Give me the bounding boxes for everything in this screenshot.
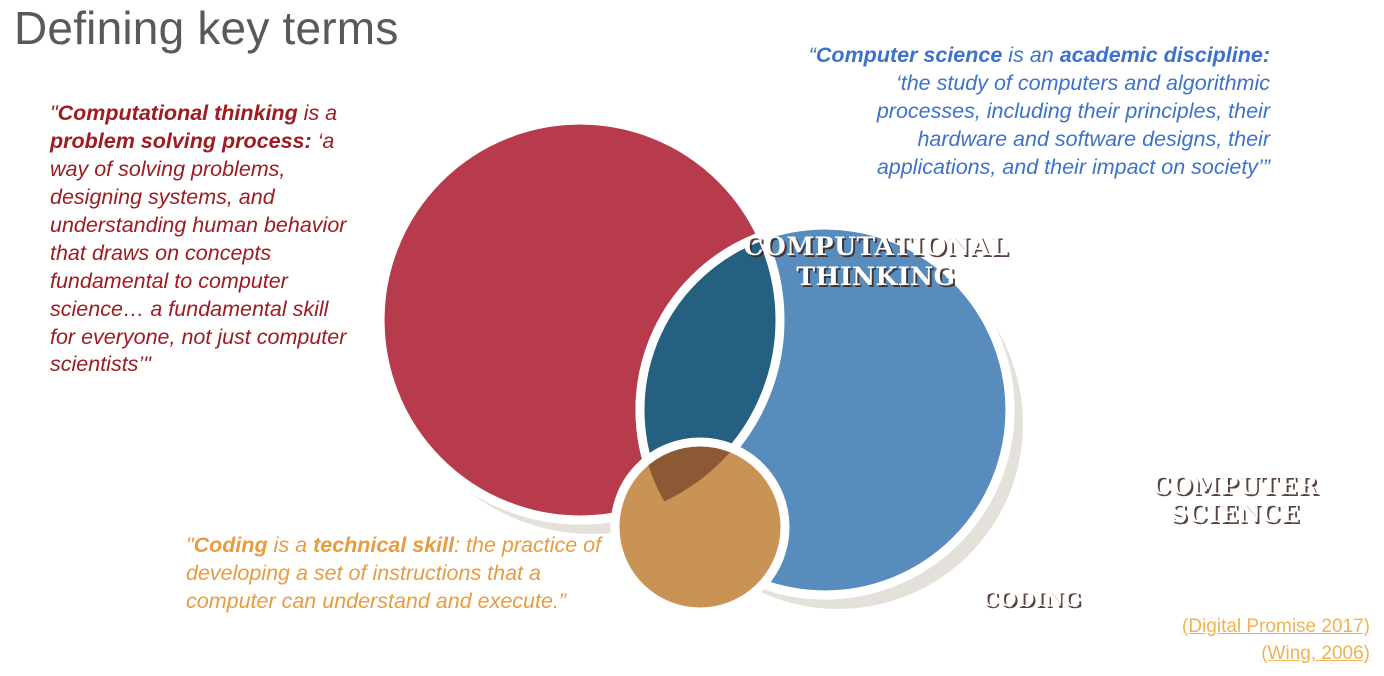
quote-open-quote: “ <box>809 43 816 67</box>
slide-canvas: Defining key terms <box>0 0 1384 676</box>
quote-category: technical skill <box>313 533 454 557</box>
quote-term: Computer science <box>816 43 1002 67</box>
quote-coding: "Coding is a technical skill: the practi… <box>186 532 606 616</box>
quote-computer-science: “Computer science is an academic discipl… <box>800 42 1270 182</box>
quote-open-quote: " <box>186 533 194 557</box>
citations: (Digital Promise 2017) (Wing, 2006) <box>1182 613 1370 668</box>
quote-body: ‘a way of solving problems, designing sy… <box>50 129 346 377</box>
quote-category: academic discipline: <box>1060 43 1270 67</box>
quote-open-quote: " <box>50 101 58 125</box>
quote-category: problem solving process: <box>50 129 312 153</box>
quote-mid: is a <box>268 533 313 557</box>
quote-mid: is an <box>1002 43 1059 67</box>
quote-mid: is a <box>298 101 337 125</box>
quote-computational-thinking: "Computational thinking is a problem sol… <box>50 100 350 379</box>
citation-link-wing[interactable]: (Wing, 2006) <box>1182 640 1370 668</box>
venn-label-computer-science: COMPUTER SCIENCE <box>1120 472 1350 529</box>
quote-term: Computational thinking <box>58 101 298 125</box>
quote-body: ‘the study of computers and algorithmic … <box>877 71 1270 179</box>
citation-link-digital-promise[interactable]: (Digital Promise 2017) <box>1182 613 1370 641</box>
quote-term: Coding <box>194 533 268 557</box>
page-title: Defining key terms <box>14 2 399 55</box>
